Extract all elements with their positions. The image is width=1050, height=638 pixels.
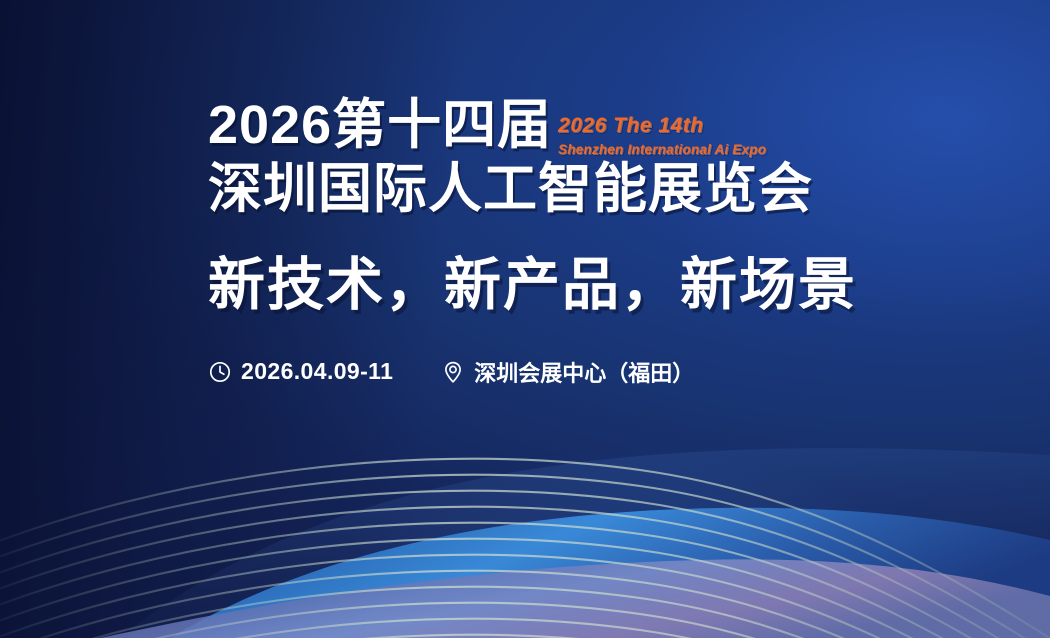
event-venue-text: 深圳会展中心（福田） bbox=[474, 356, 694, 388]
expo-banner: 2026第十四届 2026 The 14th Shenzhen Internat… bbox=[0, 0, 1050, 638]
banner-meta-row: 2026.04.09-11 深圳会展中心（福田） bbox=[208, 356, 908, 388]
banner-content: 2026第十四届 2026 The 14th Shenzhen Internat… bbox=[208, 96, 908, 388]
title-row: 2026第十四届 2026 The 14th Shenzhen Internat… bbox=[208, 96, 908, 158]
title-english-line2: Shenzhen International Ai Expo bbox=[558, 142, 766, 158]
title-english-block: 2026 The 14th Shenzhen International Ai … bbox=[558, 96, 766, 158]
location-pin-icon bbox=[441, 360, 465, 384]
title-english-line1: 2026 The 14th bbox=[558, 114, 766, 139]
title-chinese-line1: 2026第十四届 bbox=[208, 96, 552, 154]
banner-tagline: 新技术，新产品，新场景 bbox=[208, 256, 908, 316]
title-chinese-line2: 深圳国际人工智能展览会 bbox=[208, 160, 908, 218]
clock-icon bbox=[208, 360, 232, 384]
event-date-item: 2026.04.09-11 bbox=[208, 358, 393, 385]
event-venue-item: 深圳会展中心（福田） bbox=[441, 356, 694, 388]
event-date-text: 2026.04.09-11 bbox=[241, 358, 393, 385]
